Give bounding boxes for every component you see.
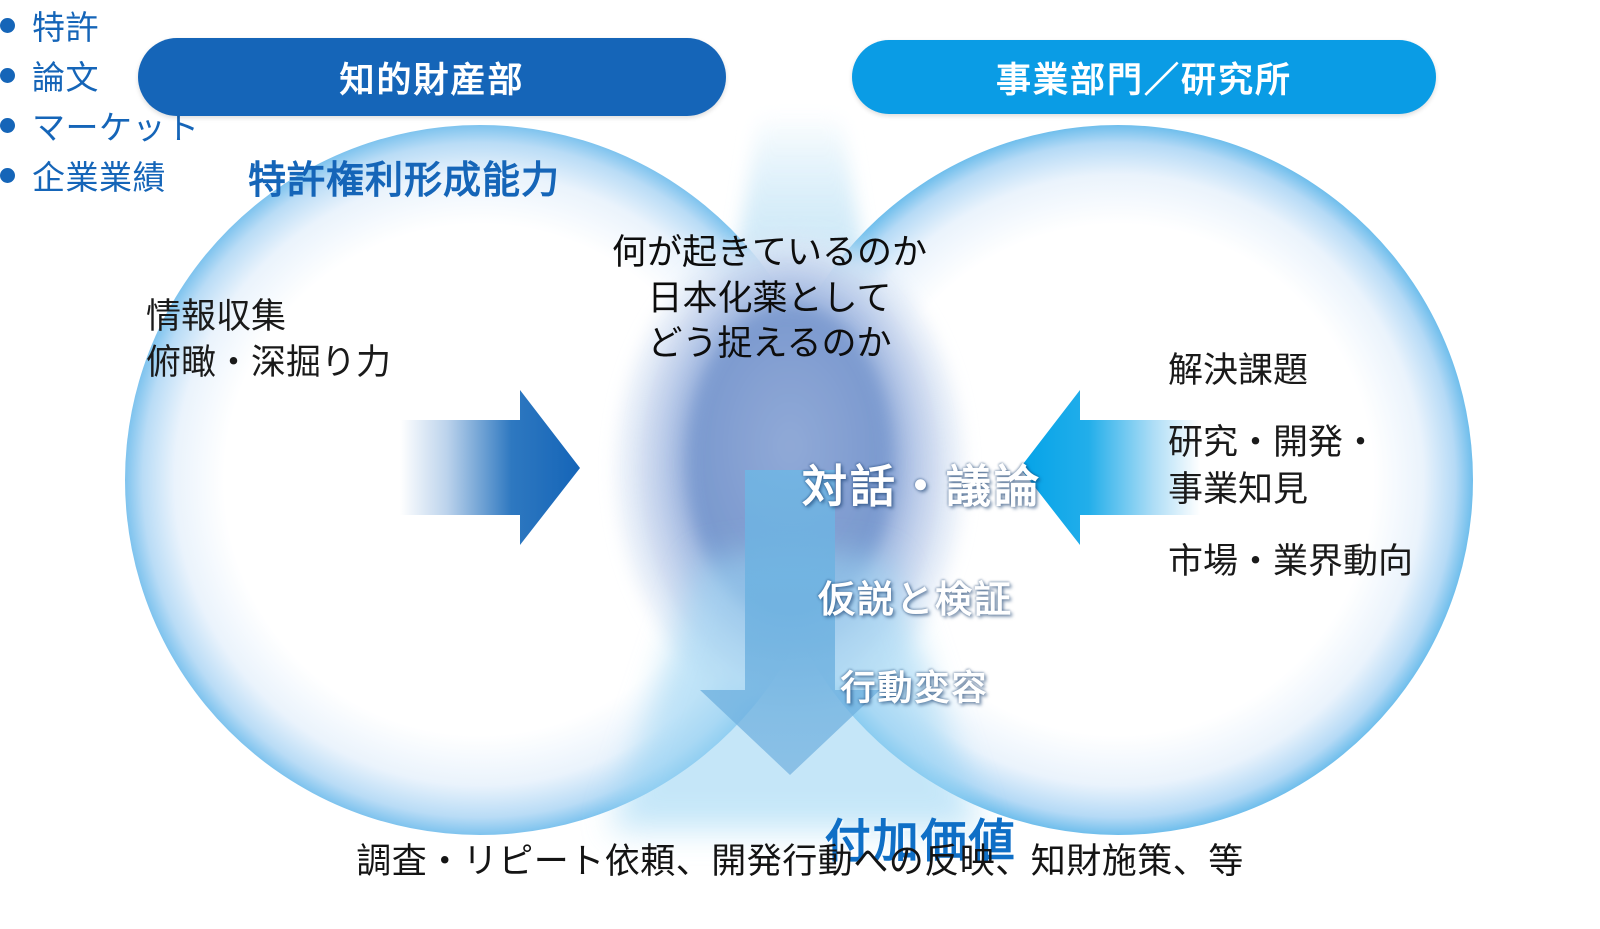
header-pill-business-research-label: 事業部門／研究所 — [996, 52, 1292, 103]
right-circle-subtitle: 研究・開発・ 事業知見 — [1168, 420, 1378, 514]
left-circle-title: 特許権利形成能力 — [248, 158, 560, 206]
header-pill-ip-department-label: 知的財産部 — [339, 52, 524, 103]
center-dialog-label-text: 対話・議論 — [802, 461, 1042, 512]
left-circle-subtitle: 情報収集 俯瞰・深掘り力 — [146, 294, 391, 386]
center-question-text: 何が起きているのか 日本化薬として どう捉えるのか — [612, 230, 927, 367]
center-behavior-label: 行動変容 — [0, 623, 1600, 755]
diagram-canvas: 知的財産部 事業部門／研究所 特許権利形成能力 情報収集 俯瞰・深掘り力 特許 … — [0, 0, 1600, 910]
header-pill-business-research[interactable]: 事業部門／研究所 — [852, 40, 1436, 114]
right-circle-title: 解決課題 — [1168, 349, 1308, 393]
center-hypothesis-label-text: 仮説と検証 — [818, 579, 1013, 620]
outcome-caption: 調査・リピート依頼、開発行動への反映、知財施策、等 — [0, 840, 1600, 884]
header-pill-ip-department[interactable]: 知的財産部 — [138, 38, 726, 116]
right-circle-trend: 市場・業界動向 — [1168, 540, 1413, 584]
center-behavior-label-text: 行動変容 — [840, 669, 988, 708]
